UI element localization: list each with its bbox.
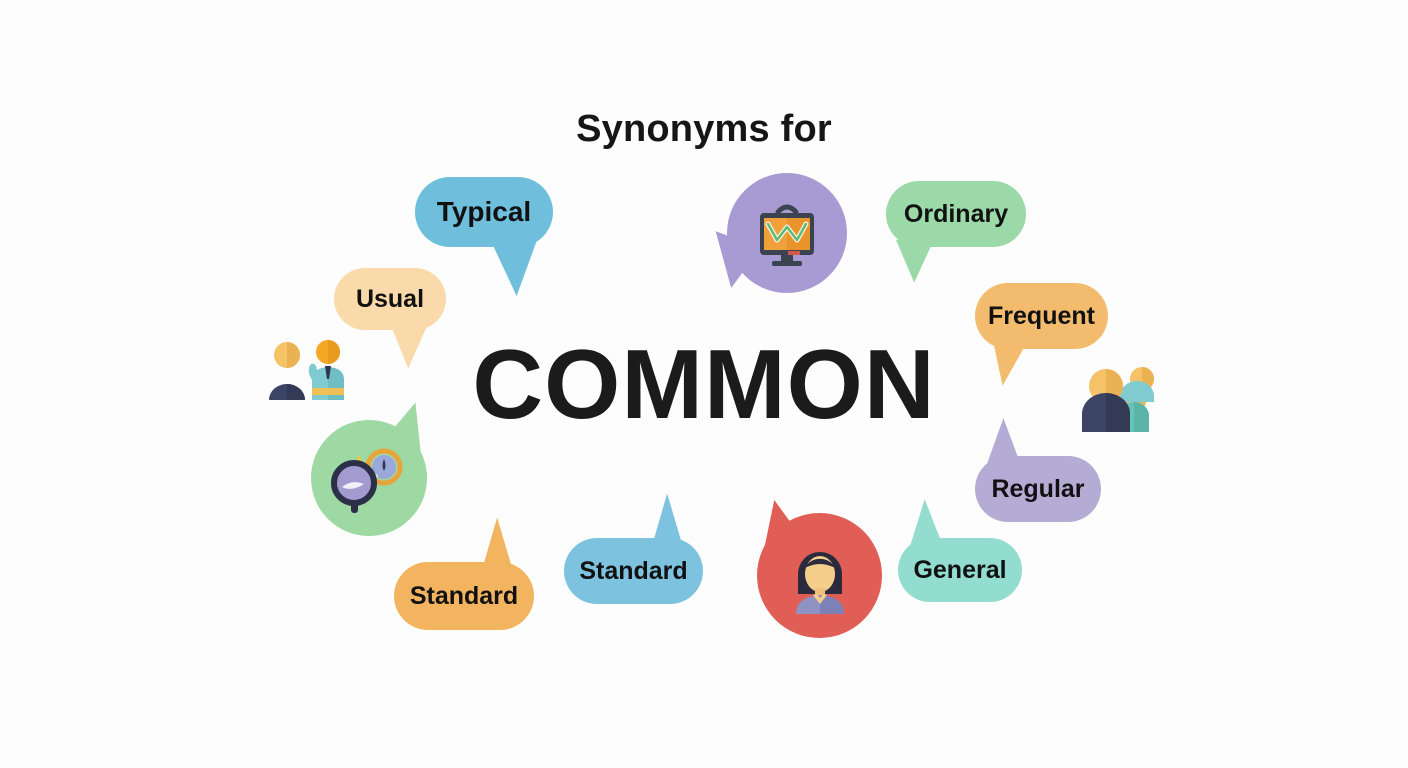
bubble-frequent-tail (991, 343, 1026, 387)
two-people-group-icon (262, 338, 357, 404)
bubble-regular-tail (987, 417, 1029, 470)
bubble-frequent-label: Frequent (988, 302, 1095, 331)
magnifying-glass-icon (326, 443, 412, 513)
bubble-typical-tail (494, 240, 546, 299)
icon-circle-briefcase (727, 173, 847, 293)
bubble-regular-label: Regular (991, 475, 1084, 504)
bubble-ordinary[interactable]: Ordinary (886, 181, 1026, 247)
bubble-usual-label: Usual (356, 285, 424, 314)
icon-circle-person (757, 513, 882, 638)
bubble-frequent[interactable]: Frequent (975, 283, 1108, 349)
page-title: Synonyms for (0, 108, 1408, 151)
three-people-group (1076, 362, 1172, 432)
bubble-regular[interactable]: Regular (975, 456, 1101, 522)
bubble-standard-orange[interactable]: Standard (394, 562, 534, 630)
two-people-group (262, 338, 357, 404)
bubble-standard-blue-label: Standard (579, 557, 687, 586)
bubble-general-label: General (913, 556, 1006, 585)
bubble-ordinary-tail (890, 240, 931, 285)
bubble-typical-label: Typical (437, 196, 531, 228)
icon-circle-magnifier (311, 420, 427, 536)
synonyms-infographic: Synonyms for COMMON Typical Usual Ordina… (0, 0, 1408, 768)
bubble-standard-orange-tail (475, 516, 512, 573)
bubble-standard-blue[interactable]: Standard (564, 538, 703, 604)
briefcase-mail-icon (750, 196, 824, 270)
bubble-typical[interactable]: Typical (415, 177, 553, 247)
bubble-usual[interactable]: Usual (334, 268, 446, 330)
bubble-usual-tail (392, 324, 432, 370)
bubble-standard-orange-label: Standard (410, 582, 518, 611)
person-avatar-icon (782, 538, 858, 614)
three-people-group-icon (1076, 362, 1172, 432)
bubble-ordinary-label: Ordinary (904, 200, 1008, 229)
center-word: COMMON (0, 335, 1408, 433)
bubble-standard-blue-tail (645, 492, 682, 549)
bubble-general-tail (909, 498, 950, 551)
